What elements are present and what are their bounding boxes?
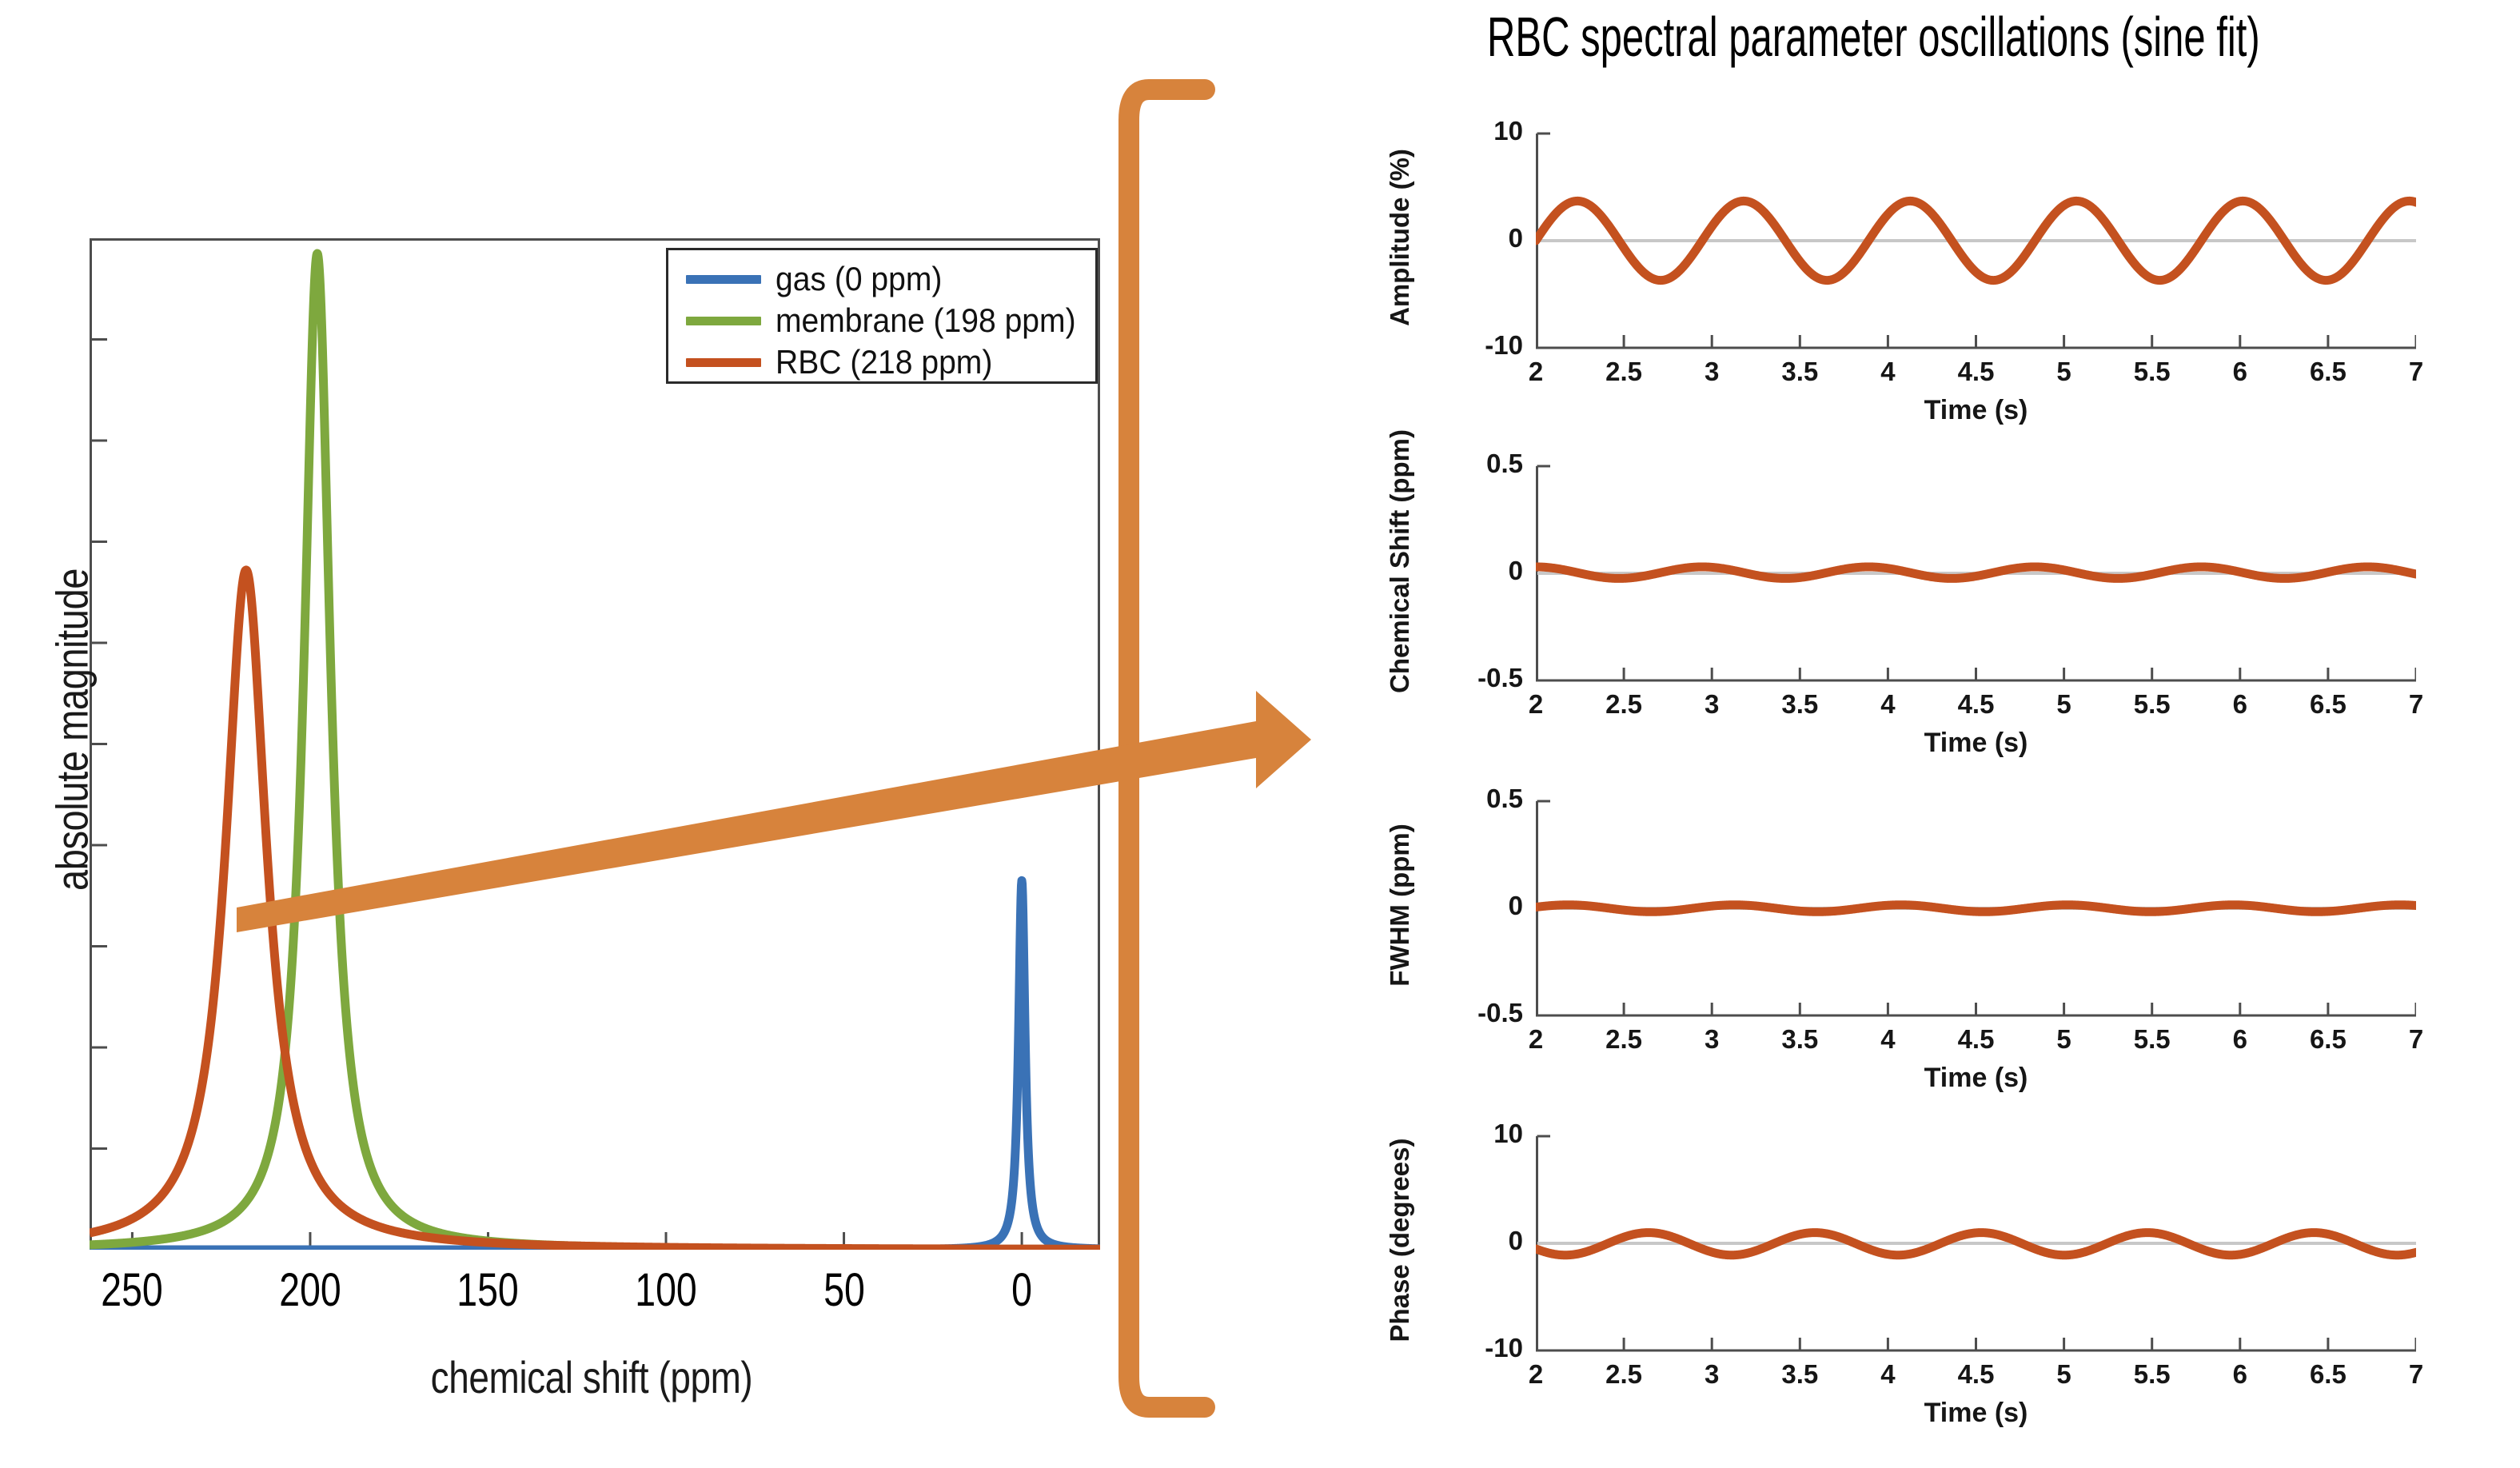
subplot-x-tick-label: 7 xyxy=(2368,357,2464,387)
legend-item: gas (0 ppm) xyxy=(686,260,1095,298)
subplot-x-tick-label: 3.5 xyxy=(1752,1024,1848,1055)
subplot-y-axis-label: Chemical Shift (ppm) xyxy=(1385,447,1415,693)
subplot-x-tick-label: 2.5 xyxy=(1576,357,1672,387)
subplot-x-tick-label: 6.5 xyxy=(2280,1024,2376,1055)
subplot-x-tick-label: 5 xyxy=(2016,1359,2112,1390)
subplot-x-tick-label: 7 xyxy=(2368,1024,2464,1055)
subplot-x-axis-label: Time (s) xyxy=(1536,1398,2416,1429)
subplot-x-tick-label: 2.5 xyxy=(1576,689,1672,720)
spectrum-x-tick-label: 0 xyxy=(951,1263,1092,1317)
spectrum-curve-membrane xyxy=(90,253,1100,1249)
subplot-x-tick-label: 6.5 xyxy=(2280,689,2376,720)
subplot-y-tick-label: 10 xyxy=(1419,1119,1523,1149)
subplot-x-tick-label: 5 xyxy=(2016,689,2112,720)
spectrum-canvas xyxy=(90,238,1100,1250)
subplot-y-tick-label: 0 xyxy=(1419,1226,1523,1256)
spectrum-y-axis-label: absolute magnitude xyxy=(46,428,98,1032)
subplot-x-tick-label: 4 xyxy=(1840,1359,1936,1390)
spectrum-axes-box xyxy=(91,240,1099,1249)
subplot-y-tick-label: 0.5 xyxy=(1419,449,1523,479)
subplot-x-tick-label: 6 xyxy=(2192,357,2288,387)
subplot-x-tick-label: 4.5 xyxy=(1928,357,2024,387)
subplot-x-tick-label: 6.5 xyxy=(2280,1359,2376,1390)
legend-color-swatch xyxy=(686,317,761,325)
subplot-x-tick-label: 7 xyxy=(2368,1359,2464,1390)
subplot-phase-oscillation: 100-1022.533.544.555.566.57Time (s)Phase… xyxy=(1536,1134,2416,1468)
subplot-y-tick-label: 10 xyxy=(1419,116,1523,146)
spectrum-panel: absolute magnitude 250200150100500 chemi… xyxy=(0,0,1247,1438)
subplot-x-tick-label: 3 xyxy=(1664,689,1760,720)
subplot-y-axis-label: Amplitude (%) xyxy=(1385,114,1415,361)
subplot-fwhm-oscillation: 0.50-0.522.533.544.555.566.57Time (s)FWH… xyxy=(1536,799,2416,1133)
subplot-x-tick-label: 3.5 xyxy=(1752,1359,1848,1390)
subplot-x-tick-label: 5.5 xyxy=(2104,357,2200,387)
subplot-canvas xyxy=(1536,799,2416,1018)
sine-fit-curve xyxy=(1536,905,2416,912)
subplot-canvas xyxy=(1536,131,2416,350)
subplot-y-tick-label: 0 xyxy=(1419,556,1523,586)
figure-root: absolute magnitude 250200150100500 chemi… xyxy=(0,0,2520,1438)
spectrum-x-axis-label: chemical shift (ppm) xyxy=(106,1351,1077,1403)
legend-label: gas (0 ppm) xyxy=(776,262,942,296)
legend-item: membrane (198 ppm) xyxy=(686,301,1095,340)
subplot-x-tick-label: 3 xyxy=(1664,1359,1760,1390)
subplot-x-tick-label: 4 xyxy=(1840,1024,1936,1055)
subplot-x-axis-label: Time (s) xyxy=(1536,395,2416,426)
subplot-x-tick-label: 3 xyxy=(1664,357,1760,387)
spectrum-curve-rbc xyxy=(90,570,1100,1249)
subplot-x-tick-label: 6 xyxy=(2192,1359,2288,1390)
subplot-x-tick-label: 6 xyxy=(2192,689,2288,720)
subplot-x-tick-label: 3.5 xyxy=(1752,357,1848,387)
legend-color-swatch xyxy=(686,358,761,367)
subplot-x-tick-label: 2 xyxy=(1488,689,1584,720)
subplot-x-axis-label: Time (s) xyxy=(1536,1063,2416,1094)
subplot-x-tick-label: 5.5 xyxy=(2104,1024,2200,1055)
legend-item: RBC (218 ppm) xyxy=(686,343,1095,381)
subplot-x-tick-label: 5.5 xyxy=(2104,1359,2200,1390)
subplot-x-tick-label: 4 xyxy=(1840,357,1936,387)
subplot-canvas xyxy=(1536,464,2416,683)
subplot-x-tick-label: 2 xyxy=(1488,1359,1584,1390)
subplot-y-tick-label: 0 xyxy=(1419,223,1523,253)
subplot-canvas xyxy=(1536,1134,2416,1353)
spectrum-x-tick-label: 100 xyxy=(596,1263,736,1317)
subplot-x-tick-label: 5 xyxy=(2016,1024,2112,1055)
subplot-x-tick-label: 4.5 xyxy=(1928,1359,2024,1390)
subplot-x-tick-label: 5 xyxy=(2016,357,2112,387)
subplot-y-tick-label: 0.5 xyxy=(1419,784,1523,814)
spectrum-x-tick-label: 50 xyxy=(774,1263,915,1317)
subplot-x-tick-label: 7 xyxy=(2368,689,2464,720)
legend-color-swatch xyxy=(686,275,761,284)
legend-label: RBC (218 ppm) xyxy=(776,345,992,379)
subplot-x-tick-label: 2.5 xyxy=(1576,1359,1672,1390)
subplot-amplitude-oscillation: 100-1022.533.544.555.566.57Time (s)Ampli… xyxy=(1536,131,2416,465)
subplot-x-tick-label: 2.5 xyxy=(1576,1024,1672,1055)
subplot-x-tick-label: 6 xyxy=(2192,1024,2288,1055)
oscillations-panel: RBC spectral parameter oscillations (sin… xyxy=(1247,0,2520,1438)
subplot-x-tick-label: 5.5 xyxy=(2104,689,2200,720)
spectrum-plot-area xyxy=(90,238,1100,1250)
spectrum-x-tick-label: 150 xyxy=(417,1263,558,1317)
oscillations-title: RBC spectral parameter oscillations (sin… xyxy=(1487,5,2203,69)
subplot-x-tick-label: 4 xyxy=(1840,689,1936,720)
subplot-x-tick-label: 4.5 xyxy=(1928,689,2024,720)
legend-label: membrane (198 ppm) xyxy=(776,304,1076,337)
subplot-chemical-shift-oscillation: 0.50-0.522.533.544.555.566.57Time (s)Che… xyxy=(1536,464,2416,798)
subplot-x-axis-label: Time (s) xyxy=(1536,728,2416,759)
subplot-x-tick-label: 4.5 xyxy=(1928,1024,2024,1055)
spectrum-x-tick-label: 200 xyxy=(240,1263,381,1317)
spectrum-legend: gas (0 ppm)membrane (198 ppm)RBC (218 pp… xyxy=(666,248,1098,384)
subplot-y-axis-label: Phase (degrees) xyxy=(1385,1117,1415,1363)
subplot-x-tick-label: 2 xyxy=(1488,1024,1584,1055)
subplot-x-tick-label: 2 xyxy=(1488,357,1584,387)
subplot-y-tick-label: 0 xyxy=(1419,891,1523,921)
subplot-x-tick-label: 3.5 xyxy=(1752,689,1848,720)
subplot-x-tick-label: 6.5 xyxy=(2280,357,2376,387)
subplot-y-axis-label: FWHM (ppm) xyxy=(1385,782,1415,1028)
spectrum-x-tick-label: 250 xyxy=(62,1263,202,1317)
spectrum-curve-gas xyxy=(90,880,1100,1250)
subplot-x-tick-label: 3 xyxy=(1664,1024,1760,1055)
